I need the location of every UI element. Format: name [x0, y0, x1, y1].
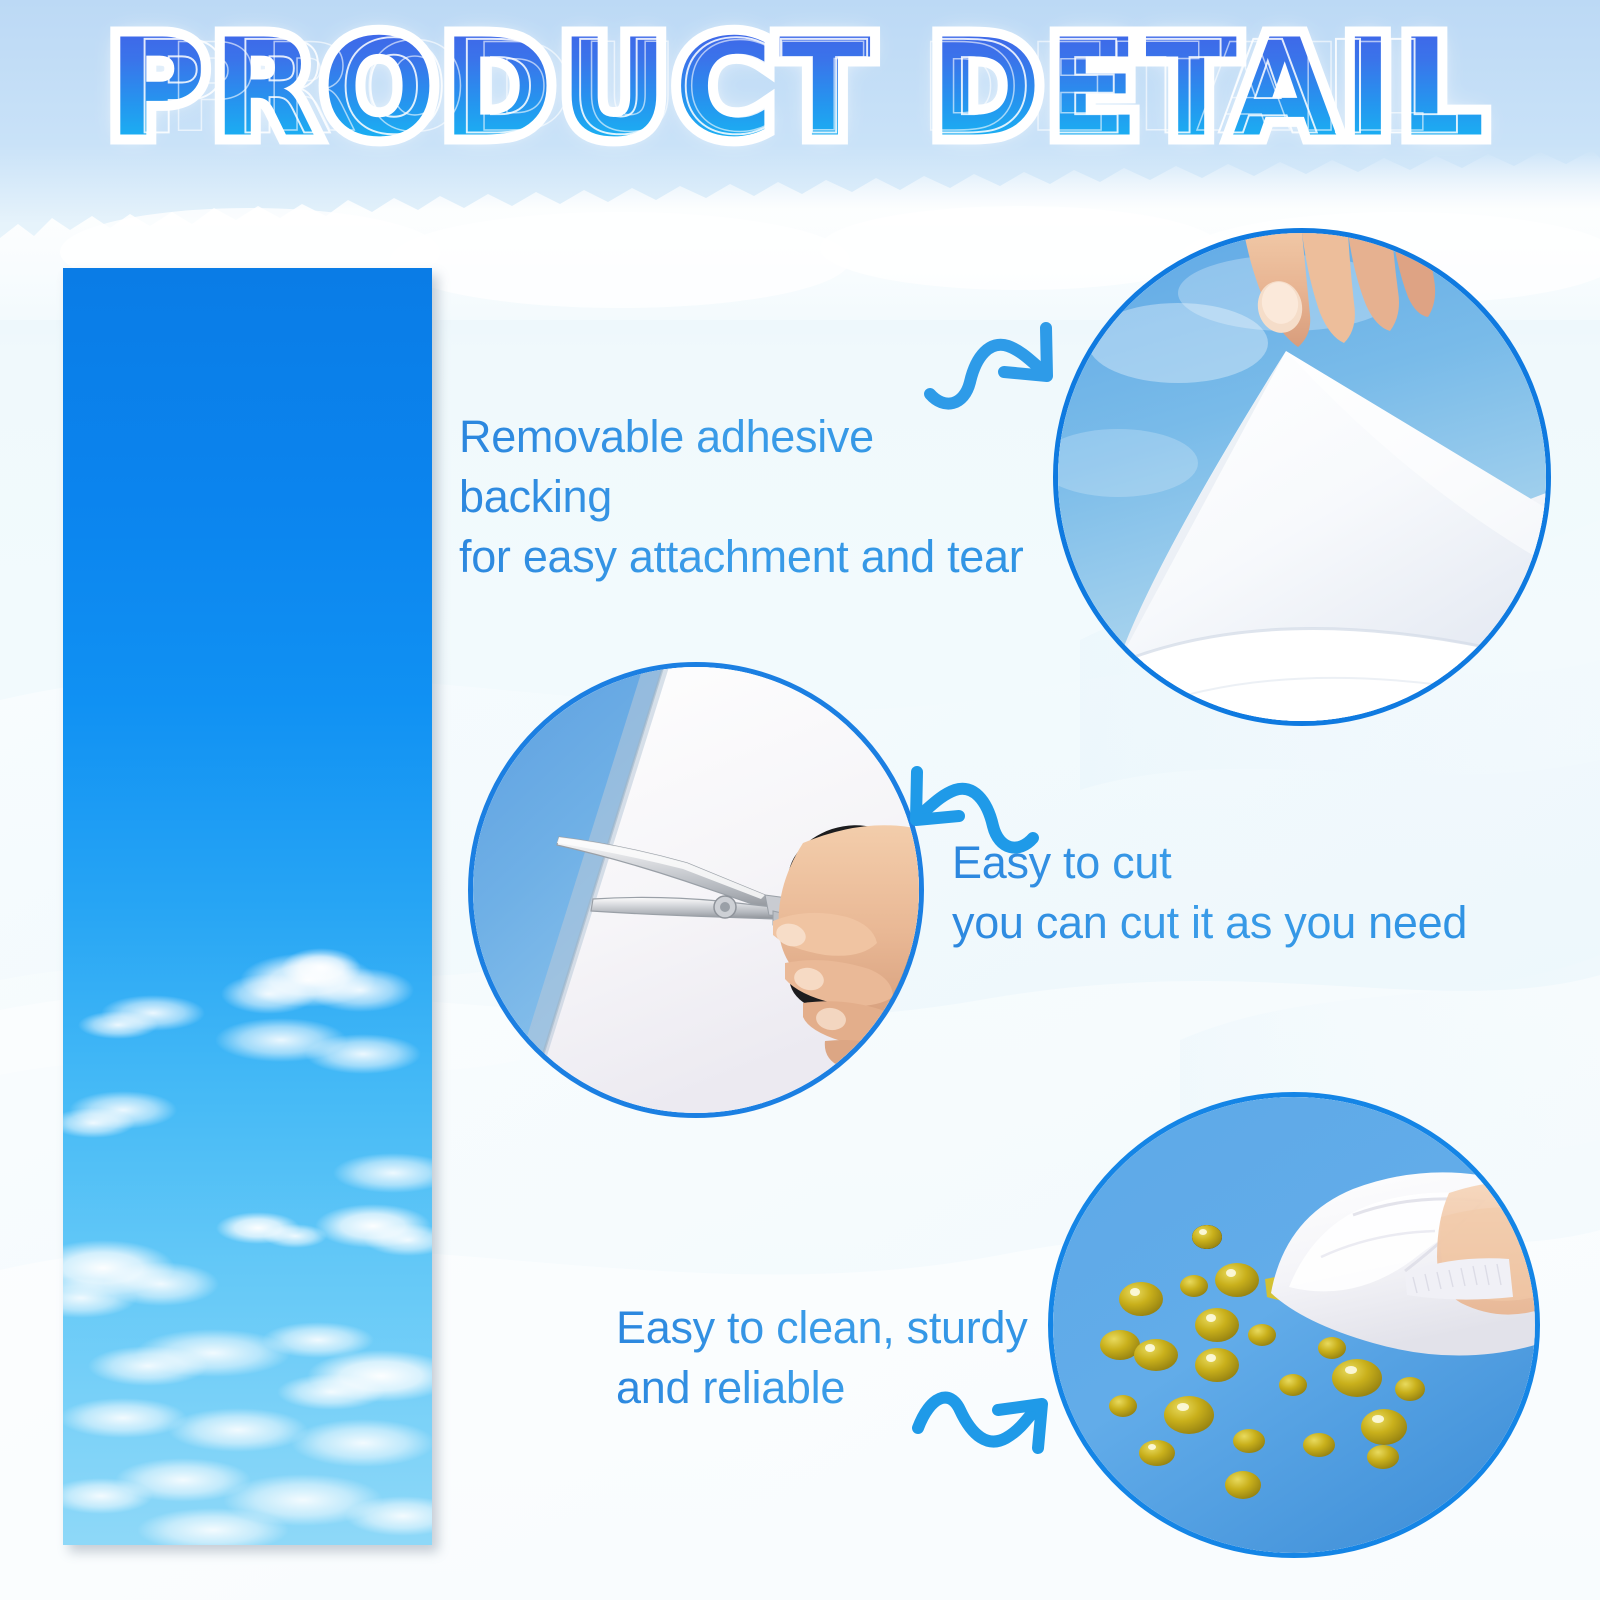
- product-detail-infographic: PRODUCT DETAIL PRODUCT DETAIL PRODUCT DE…: [0, 0, 1600, 1600]
- squiggly-arrow-down-right-icon: [916, 306, 1066, 412]
- hand-cutting-film-with-scissors-photo: [468, 662, 924, 1118]
- hand-peeling-adhesive-backing-photo: [1053, 228, 1551, 726]
- squiggly-arrow-up-right-icon: [902, 1352, 1064, 1470]
- feature-caption-removable-adhesive: Removable adhesive backing for easy atta…: [459, 407, 1034, 587]
- page-title: PRODUCT DETAIL PRODUCT DETAIL PRODUCT DE…: [0, 2, 1600, 177]
- product-panel-clouds: [63, 268, 432, 1545]
- product-panel: [63, 268, 432, 1545]
- page-title-inner-stroke-2: PRODUCT DETAIL: [68, 9, 1532, 169]
- hand-wiping-oil-droplets-photo: [1048, 1092, 1540, 1558]
- squiggly-arrow-down-left-icon: [893, 742, 1043, 856]
